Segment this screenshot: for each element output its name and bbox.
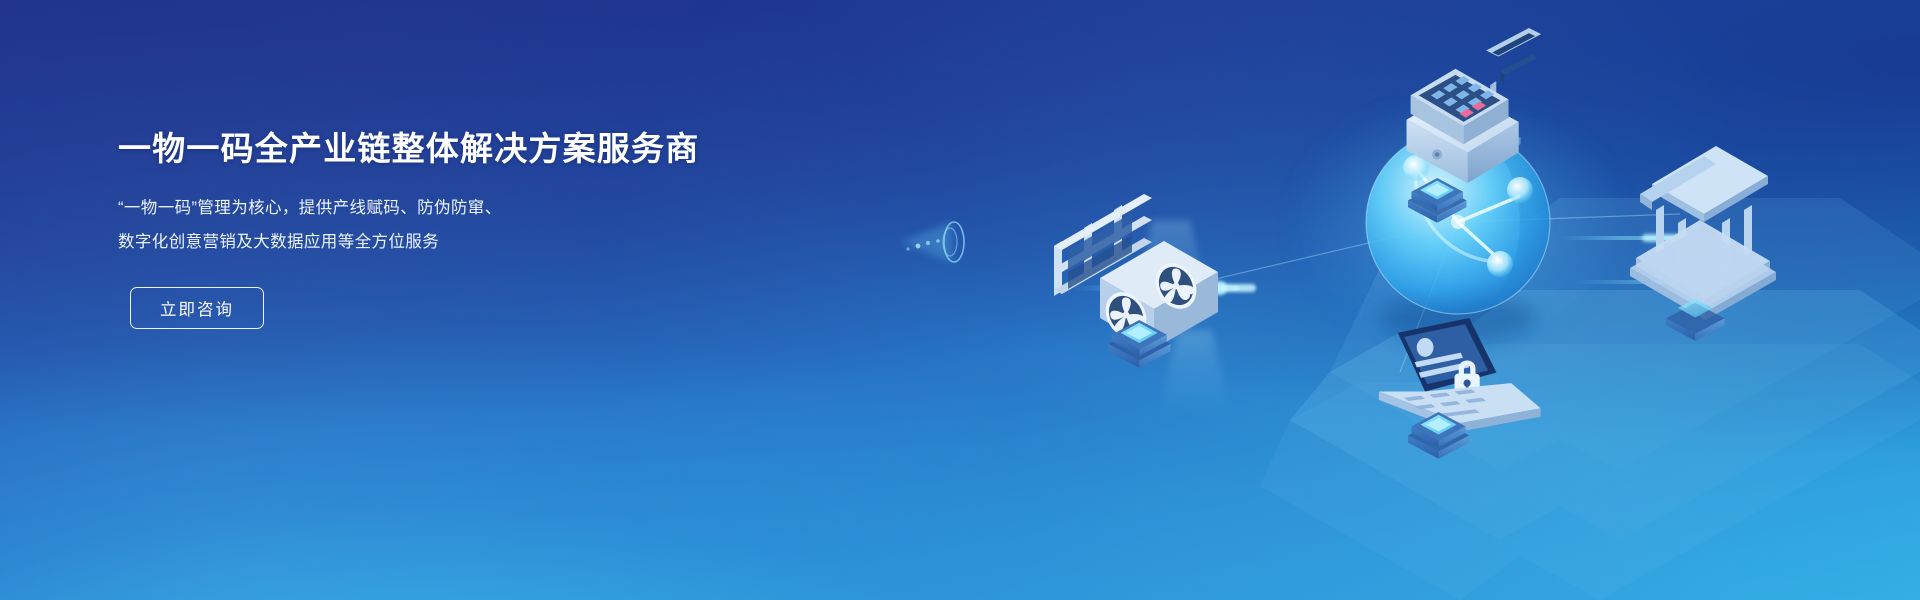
pedestal-cube-server [1108, 320, 1171, 368]
pedestal-cube-top [1456, 112, 1521, 161]
pedestal-cube-laptop [1408, 412, 1469, 459]
server-fan-rack-icon [1054, 194, 1218, 349]
bank-building-icon [1630, 146, 1776, 320]
laptop-security-icon [1379, 318, 1541, 431]
isometric-illustration [860, 0, 1920, 600]
globe-halo [1283, 92, 1633, 352]
page-title: 一物一码全产业链整体解决方案服务商 [118, 128, 758, 169]
hero-copy: 一物一码全产业链整体解决方案服务商 “一物一码”管理为核心，提供产线赋码、防伪防… [118, 128, 758, 329]
scan-beam-icon [900, 222, 964, 262]
pedestal-cube-pos [1408, 178, 1466, 223]
connection-lines [1160, 120, 1680, 372]
subtitle-line-1: “一物一码”管理为核心，提供产线赋码、防伪防窜、 [118, 191, 758, 225]
hero-banner: 一物一码全产业链整体解决方案服务商 “一物一码”管理为核心，提供产线赋码、防伪防… [0, 0, 1920, 600]
subtitle-line-2: 数字化创意营销及大数据应用等全方位服务 [118, 225, 758, 259]
pos-terminal-icon [1407, 28, 1542, 183]
light-beams [1128, 130, 1510, 420]
consult-now-button[interactable]: 立即咨询 [130, 287, 264, 329]
hero-subtitle: “一物一码”管理为核心，提供产线赋码、防伪防窜、 数字化创意营销及大数据应用等全… [118, 191, 758, 259]
glowing-network-globe [1366, 130, 1550, 344]
platform-layers [1260, 198, 1920, 600]
data-streams [900, 222, 1728, 295]
padlock-icon [1455, 361, 1480, 396]
pedestal-cube-bank [1666, 299, 1724, 341]
